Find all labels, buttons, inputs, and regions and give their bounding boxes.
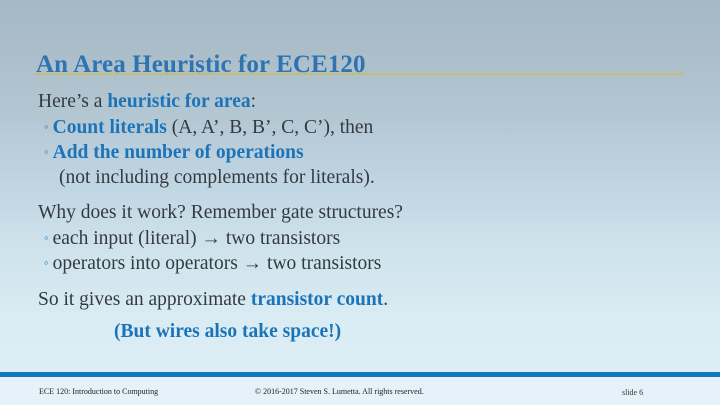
footer-copyright-label: © 2016-2017 Steven S. Lumetta. All right… xyxy=(255,387,424,397)
text-so-it-gives: So it gives an approximate xyxy=(38,289,251,310)
footer-course-label: ECE 120: Introduction to Computing xyxy=(39,387,158,397)
footer-slide-number: slide 6 xyxy=(622,388,643,398)
text-period: . xyxy=(383,289,388,310)
bullet-add-operations-continuation: (not including complements for literals)… xyxy=(59,166,688,191)
text-heres-a: Here’s a xyxy=(38,91,107,112)
body-line-heuristic: Here’s a heuristic for area: xyxy=(38,90,688,115)
hollow-bullet-icon: ◦ xyxy=(44,251,49,276)
page-title: An Area Heuristic for ECE120 xyxy=(36,50,366,80)
bullet-operators-into-operators: ◦operators into operators → two transist… xyxy=(44,251,688,277)
slide-body: Here’s a heuristic for area: ◦Count lite… xyxy=(38,90,688,344)
text-add-number-of-operations: Add the number of operations xyxy=(53,142,304,163)
title-divider-rule xyxy=(35,73,683,75)
hollow-bullet-icon: ◦ xyxy=(44,140,49,165)
body-line-but-wires: (But wires also take space!) xyxy=(114,319,688,344)
text-heuristic-for-area: heuristic for area xyxy=(107,91,250,112)
hollow-bullet-icon: ◦ xyxy=(44,115,49,140)
bullet-add-operations: ◦Add the number of operations xyxy=(44,140,688,166)
text-count-literals: Count literals xyxy=(53,117,167,138)
body-line-why-does-it-work: Why does it work? Remember gate structur… xyxy=(38,201,688,226)
text-literal-list: (A, A’, B, B’, C, C’), then xyxy=(167,117,373,138)
paragraph-spacer xyxy=(38,312,688,319)
body-line-transistor-count: So it gives an approximate transistor co… xyxy=(38,288,688,313)
text-transistor-count: transistor count xyxy=(251,289,383,310)
paragraph-spacer xyxy=(38,190,688,201)
hollow-bullet-icon: ◦ xyxy=(44,226,49,251)
slide-canvas: An Area Heuristic for ECE120 Here’s a he… xyxy=(0,0,720,405)
text-each-input-transistors: each input (literal) → two transistors xyxy=(53,228,341,249)
bullet-count-literals: ◦Count literals (A, A’, B, B’, C, C’), t… xyxy=(44,115,688,141)
text-colon: : xyxy=(251,91,256,112)
text-operators-transistors: operators into operators → two transisto… xyxy=(53,253,382,274)
bullet-each-input: ◦each input (literal) → two transistors xyxy=(44,226,688,252)
paragraph-spacer xyxy=(38,277,688,288)
